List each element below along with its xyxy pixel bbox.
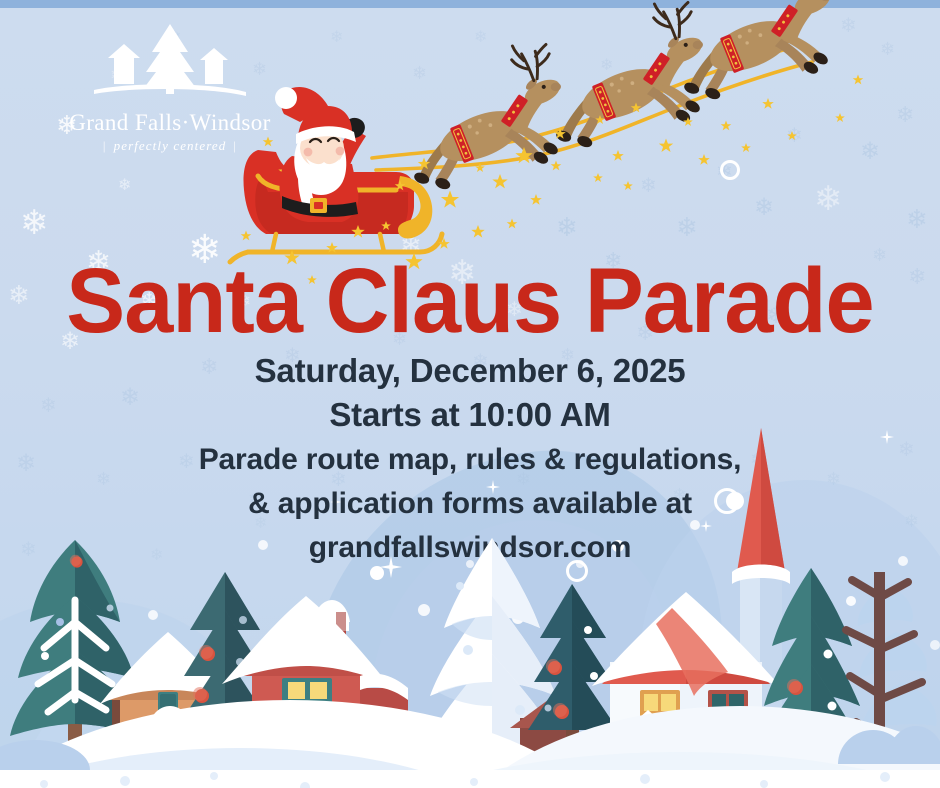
winter-village-illustration xyxy=(0,0,940,788)
ground-snow-speck xyxy=(300,782,310,788)
ground-snow-speck xyxy=(760,780,768,788)
ground-snow-speck xyxy=(210,772,218,780)
ground-snow-speck xyxy=(880,772,890,782)
ground-snow-speck xyxy=(40,780,48,788)
santa-claus-parade-poster: ❄❄❄❄❄❄❄❄❄❄❄❄❄❄❄❄❄❄❄❄❄❄❄❄❄❄❄❄❄❄❄❄❄❄❄❄❄❄❄❄… xyxy=(0,0,940,788)
ground-snow-speck xyxy=(120,776,130,786)
ground-snow-speck xyxy=(470,778,478,786)
ground-snow-speck xyxy=(640,774,650,784)
